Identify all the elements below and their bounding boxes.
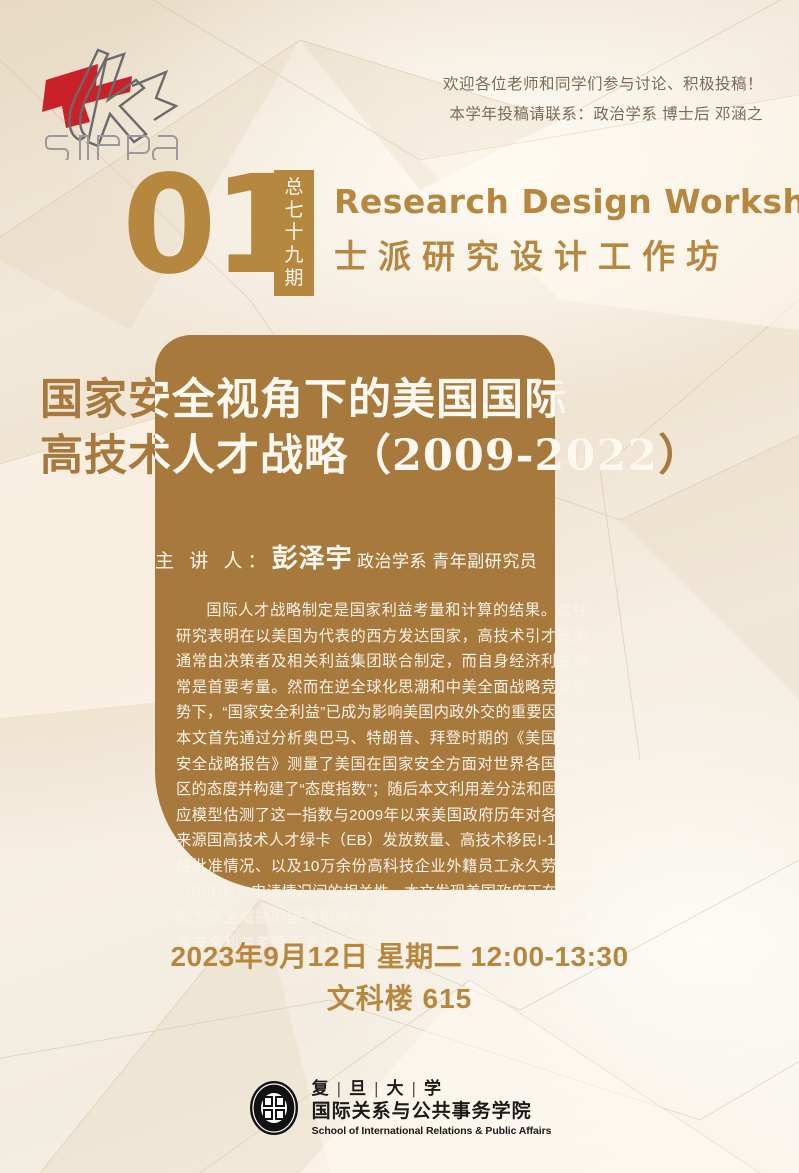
speaker-name: 彭泽宇 bbox=[272, 543, 353, 573]
issue-vertical-char-3: 九 bbox=[284, 246, 303, 265]
header-note-line-1: 欢迎各位老师和同学们参与讨论、积极投稿！ bbox=[443, 70, 763, 100]
poster-footer: 复|旦|大|学 国际关系与公共事务学院 School of Internatio… bbox=[0, 1078, 799, 1138]
abstract-text: 国际人才战略制定是国家利益考量和计算的结果。过往研究表明在以美国为代表的西方发达… bbox=[176, 598, 588, 982]
footer-univ-char-0: 复 bbox=[312, 1079, 331, 1098]
poster-header: 欢迎各位老师和同学们参与讨论、积极投稿！ 本学年投稿请联系：政治学系 博士后 邓… bbox=[0, 22, 799, 150]
issue-vertical-char-1: 七 bbox=[284, 201, 303, 220]
footer-univ-char-1: 旦 bbox=[349, 1079, 368, 1098]
issue-block: 01 总 七 十 九 期 Research Design Workshop 士派… bbox=[122, 168, 782, 300]
footer-text: 复|旦|大|学 国际关系与公共事务学院 School of Internatio… bbox=[312, 1078, 552, 1138]
poster-root: 欢迎各位老师和同学们参与讨论、积极投稿！ 本学年投稿请联系：政治学系 博士后 邓… bbox=[0, 0, 799, 1173]
workshop-title-cn: 士派研究设计工作坊 bbox=[334, 230, 730, 278]
footer-school-en: School of International Relations & Publ… bbox=[312, 1124, 552, 1138]
speaker-affiliation: 政治学系 青年副研究员 bbox=[357, 552, 537, 571]
footer-univ-char-3: 学 bbox=[424, 1079, 443, 1098]
footer-university: 复|旦|大|学 bbox=[312, 1078, 552, 1100]
speaker-label: 主 讲 人： bbox=[155, 551, 272, 572]
sirpa-mark-icon bbox=[42, 50, 176, 146]
workshop-title-en: Research Design Workshop bbox=[334, 182, 799, 221]
main-title: 国家安全视角下的美国国际 高技术人才战略（2009-2022） 国家安全视角下的… bbox=[40, 372, 740, 484]
fudan-seal-icon bbox=[248, 1079, 300, 1137]
issue-vertical-char-0: 总 bbox=[284, 178, 303, 197]
issue-vertical-label: 总 七 十 九 期 bbox=[274, 170, 314, 296]
footer-school-cn: 国际关系与公共事务学院 bbox=[312, 1100, 552, 1124]
schedule-venue: 文科楼 615 bbox=[0, 978, 799, 1020]
abstract-block: 国际人才战略制定是国家利益考量和计算的结果。过往研究表明在以美国为代表的西方发达… bbox=[176, 598, 588, 982]
schedule-block: 2023年9月12日 星期二 12:00-13:30 文科楼 615 bbox=[0, 936, 799, 1020]
issue-vertical-char-2: 十 bbox=[284, 223, 303, 242]
header-notes: 欢迎各位老师和同学们参与讨论、积极投稿！ 本学年投稿请联系：政治学系 博士后 邓… bbox=[443, 70, 763, 130]
footer-univ-char-2: 大 bbox=[387, 1079, 406, 1098]
issue-vertical-char-4: 期 bbox=[284, 269, 303, 288]
speaker-line: 主 讲 人：彭泽宇 政治学系 青年副研究员 bbox=[155, 538, 555, 575]
header-note-line-2: 本学年投稿请联系：政治学系 博士后 邓涵之 bbox=[443, 100, 763, 130]
schedule-datetime: 2023年9月12日 星期二 12:00-13:30 bbox=[0, 936, 799, 978]
sirpa-logo bbox=[36, 42, 186, 160]
